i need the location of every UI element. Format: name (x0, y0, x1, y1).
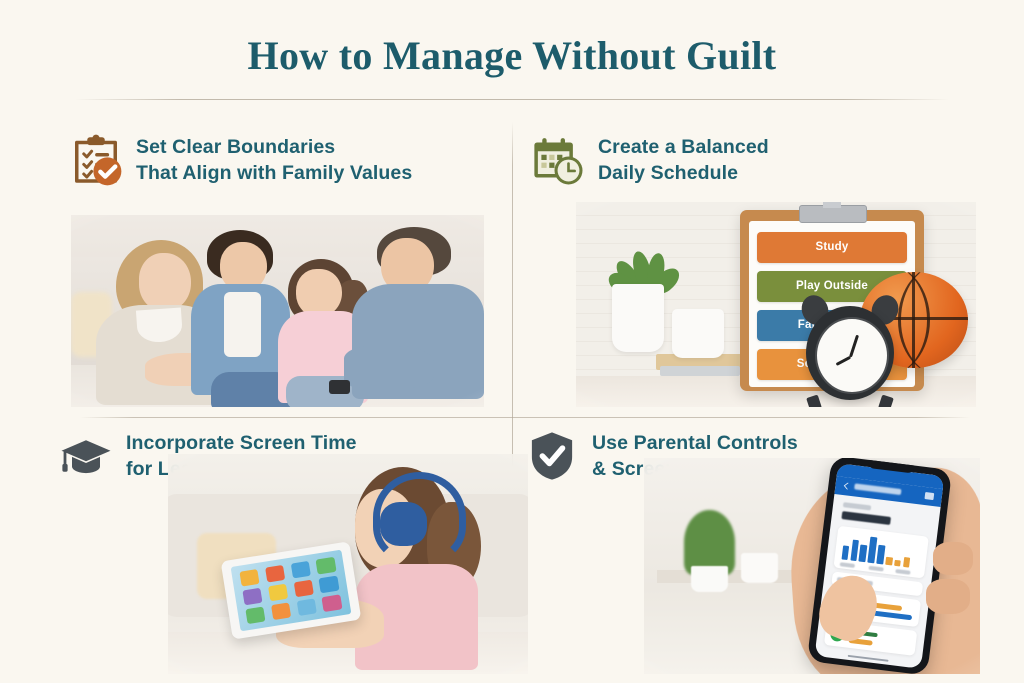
alarm-clock (800, 290, 900, 405)
infographic-page: How to Manage Without Guilt (0, 0, 1024, 683)
shield-check-icon (524, 428, 580, 484)
quadrant-2-heading-line1: Create a Balanced (598, 136, 769, 158)
quadrant-1-heading-line2: That Align with Family Values (136, 160, 412, 186)
quadrant-create-balanced-schedule: Create a Balanced Daily Schedule (530, 132, 970, 407)
horizontal-divider (80, 417, 970, 418)
calendar-clock-icon (530, 132, 586, 188)
quadrant-set-clear-boundaries: Set Clear Boundaries That Align with Fam… (68, 132, 498, 407)
girl-tablet-headphones-photo (168, 454, 528, 674)
quadrant-use-parental-controls: Use Parental Controls & Screen Time Moni… (524, 428, 976, 674)
smartphone-device (807, 458, 952, 674)
graduation-cap-icon (58, 428, 114, 484)
quadrant-1-heading: Set Clear Boundaries That Align with Fam… (136, 132, 412, 186)
page-title: How to Manage Without Guilt (0, 32, 1024, 79)
quadrant-1-heading-line1: Set Clear Boundaries (136, 136, 335, 158)
clipboard-check-icon (68, 132, 124, 188)
quadrant-incorporate-screen-time-learning: Incorporate Screen Time for Learning (58, 428, 510, 674)
quadrant-2-header: Create a Balanced Daily Schedule (530, 132, 769, 188)
quadrant-2-heading-line2: Daily Schedule (598, 160, 769, 186)
quadrant-3-heading-line1: Incorporate Screen Time (126, 432, 357, 454)
title-divider (75, 99, 949, 100)
daily-schedule-clipboard-photo: Study Play Outside Family Time Screen Ti… (576, 202, 976, 407)
family-conversation-photo (71, 215, 484, 407)
hand-phone-parental-app-photo (644, 458, 980, 674)
tablet-app-grid (239, 557, 342, 625)
quadrant-4-heading-line1: Use Parental Controls (592, 432, 798, 454)
quadrant-1-header: Set Clear Boundaries That Align with Fam… (68, 132, 412, 188)
quadrant-2-heading: Create a Balanced Daily Schedule (598, 132, 769, 186)
schedule-item: Study (757, 232, 908, 263)
